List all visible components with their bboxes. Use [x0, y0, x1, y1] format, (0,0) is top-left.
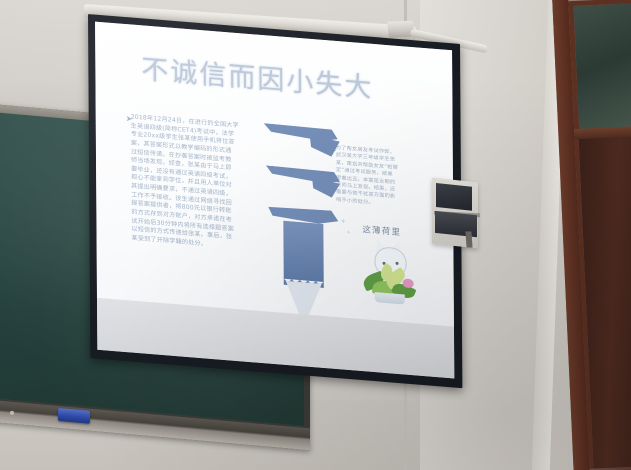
projection-screen[interactable]: 不诚信而因小失大 ➤ 2018年12月24日，在进行的全国大学 生英语四级(简称…: [88, 14, 462, 388]
pencil-illustration: ✦ ✦: [256, 118, 362, 309]
screen-surface: 不诚信而因小失大 ➤ 2018年12月24日，在进行的全国大学 生英语四级(简称…: [95, 22, 454, 379]
sparkle-icon: ✦: [340, 217, 346, 225]
cat-plant-illustration: [358, 239, 424, 306]
classroom-photo: 不诚信而因小失大 ➤ 2018年12月24日，在进行的全国大学 生英语四级(简称…: [0, 0, 631, 470]
door-glass-pane: [568, 0, 631, 139]
sparkle-icon: ✦: [346, 230, 350, 236]
presentation-slide: 不诚信而因小失大 ➤ 2018年12月24日，在进行的全国大学 生英语四级(简称…: [95, 22, 454, 327]
slide-caption: 这薄荷里: [362, 223, 401, 238]
pencil-body: [283, 221, 323, 282]
slide-title: 不诚信而因小失大: [141, 47, 373, 105]
board-eraser[interactable]: [58, 408, 90, 424]
cat-eye-right: [396, 262, 399, 265]
panel-handle[interactable]: [465, 231, 472, 247]
slide-body-left: 2018年12月24日，在进行的全国大学 生英语四级(简称CET4)考试中，法学…: [131, 113, 249, 252]
plant-flower: [403, 278, 414, 288]
panel-display-icon: [436, 183, 472, 211]
plant-pot: [375, 292, 405, 304]
tray-screw: [10, 411, 14, 415]
media-control-panel[interactable]: [432, 178, 478, 249]
